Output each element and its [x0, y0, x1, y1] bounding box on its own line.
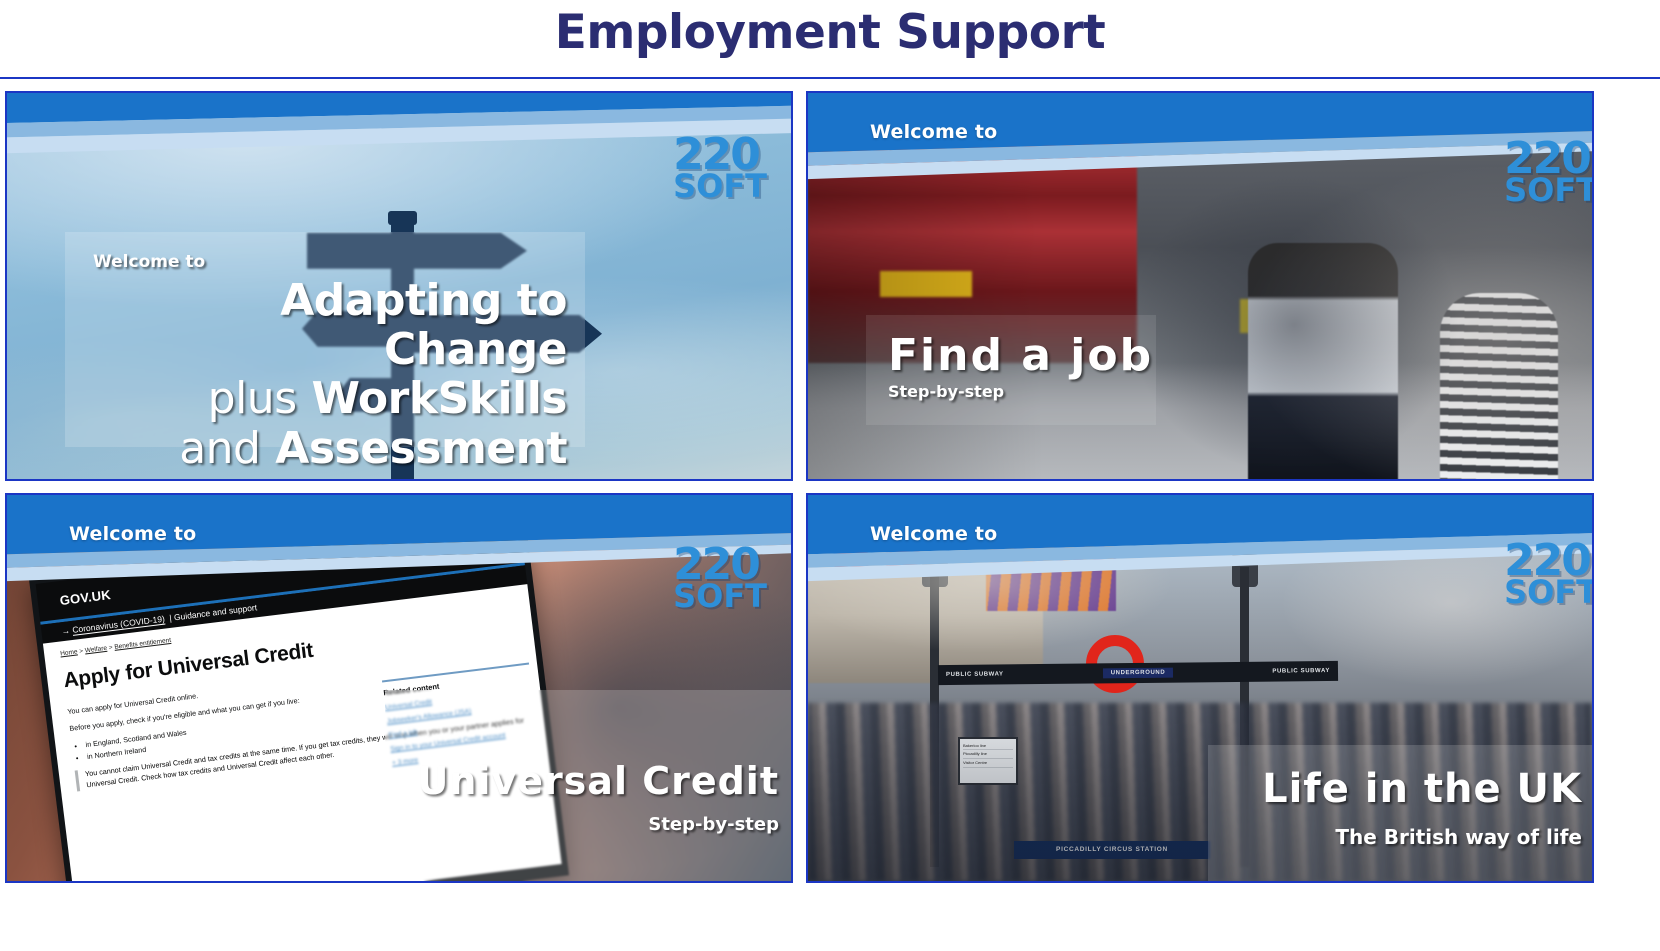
tile-subtitle: Step-by-step [648, 814, 779, 835]
subway-label-right: PUBLIC SUBWAY [1272, 668, 1330, 675]
station-name-sign: PICCADILLY CIRCUS STATION [1014, 841, 1210, 859]
tile-title: Universal Credit [417, 760, 779, 803]
striped-banner-flags [986, 527, 1116, 611]
red-shop-sign-2 [886, 550, 920, 572]
public-subway-signboard: PUBLIC SUBWAY UNDERGROUND PUBLIC SUBWAY [938, 661, 1338, 685]
bus-destination-panel-2 [1240, 299, 1298, 333]
title-line-3-lite: and [179, 423, 260, 474]
logo-line-2: SOFT [1504, 177, 1594, 203]
tile-subtitle: Step-by-step [888, 382, 1156, 401]
title-line-2-bold: WorkSkills [311, 373, 567, 424]
tile-title: Find a job [888, 331, 1156, 380]
line-sign-row: Piccadilly line [963, 750, 1013, 759]
title-line-1: Adapting to Change [93, 276, 567, 375]
welcome-label: Welcome to [93, 252, 585, 272]
tile-life-in-the-uk[interactable]: PUBLIC SUBWAY UNDERGROUND PUBLIC SUBWAY … [806, 493, 1594, 883]
title-line-2-lite: plus [208, 373, 297, 424]
logo-line-2: SOFT [673, 173, 767, 199]
bus-destination-panel [880, 271, 972, 297]
banner-welcome-label: Welcome to [69, 523, 196, 545]
tile-text-overlay: Life in the UK The British way of life [1208, 745, 1594, 883]
line-sign-row: Bakerloo line [963, 742, 1013, 751]
breadcrumb-benefits[interactable]: Benefits entitlement [114, 637, 172, 651]
page-title: Employment Support [0, 4, 1660, 63]
tile-title: Adapting to Change plus WorkSkills and A… [93, 276, 585, 473]
brand-logo-220soft: 220 SOFT [1504, 141, 1594, 203]
tile-adapting-to-change[interactable]: 220 SOFT Welcome to Adapting to Change p… [5, 91, 793, 481]
tile-title: Life in the UK [1262, 767, 1582, 812]
commuter-figure [1248, 243, 1398, 481]
breadcrumb-welfare[interactable]: Welfare [84, 645, 107, 655]
tile-grid: 220 SOFT Welcome to Adapting to Change p… [0, 79, 1660, 883]
banner-welcome-label: Welcome to [870, 121, 997, 143]
underground-label: UNDERGROUND [1103, 667, 1174, 678]
tile-universal-credit[interactable]: GOV.UK → Coronavirus (COVID-19) | Guidan… [5, 493, 793, 883]
title-line-2: plus WorkSkills [93, 374, 567, 423]
red-shop-sign [834, 550, 868, 572]
tile-text-overlay: Universal Credit Step-by-step [385, 690, 793, 883]
tile-subtitle: The British way of life [1335, 825, 1582, 849]
brand-logo-220soft: 220 SOFT [1504, 543, 1594, 605]
page-header: Employment Support [0, 0, 1660, 79]
breadcrumb-home[interactable]: Home [60, 648, 78, 657]
line-sign-row: Visitor Centre [963, 759, 1013, 768]
title-line-3: and Assessment [93, 424, 567, 473]
logo-line-2: SOFT [1504, 579, 1594, 605]
tile-text-overlay: Welcome to Adapting to Change plus WorkS… [65, 232, 585, 447]
tile-text-overlay: Find a job Step-by-step [866, 315, 1156, 425]
title-line-3-bold: Assessment [275, 423, 567, 474]
brand-logo-220soft: 220 SOFT [673, 137, 767, 199]
striped-top-figure [1440, 293, 1558, 481]
street-lamp-head [922, 553, 948, 587]
tube-line-information-sign: Bakerloo line Piccadilly line Visitor Ce… [958, 737, 1018, 785]
street-lamp-head [1232, 553, 1258, 587]
tile-find-a-job[interactable]: Welcome to 220 SOFT Find a job Step-by-s… [806, 91, 1594, 481]
logo-line-2: SOFT [673, 583, 767, 609]
street-lamp-post [930, 567, 939, 867]
banner-welcome-label: Welcome to [870, 523, 997, 545]
underground-roundel-icon [1086, 635, 1144, 693]
brand-logo-220soft: 220 SOFT [673, 547, 767, 609]
subway-label-left: PUBLIC SUBWAY [946, 671, 1004, 678]
